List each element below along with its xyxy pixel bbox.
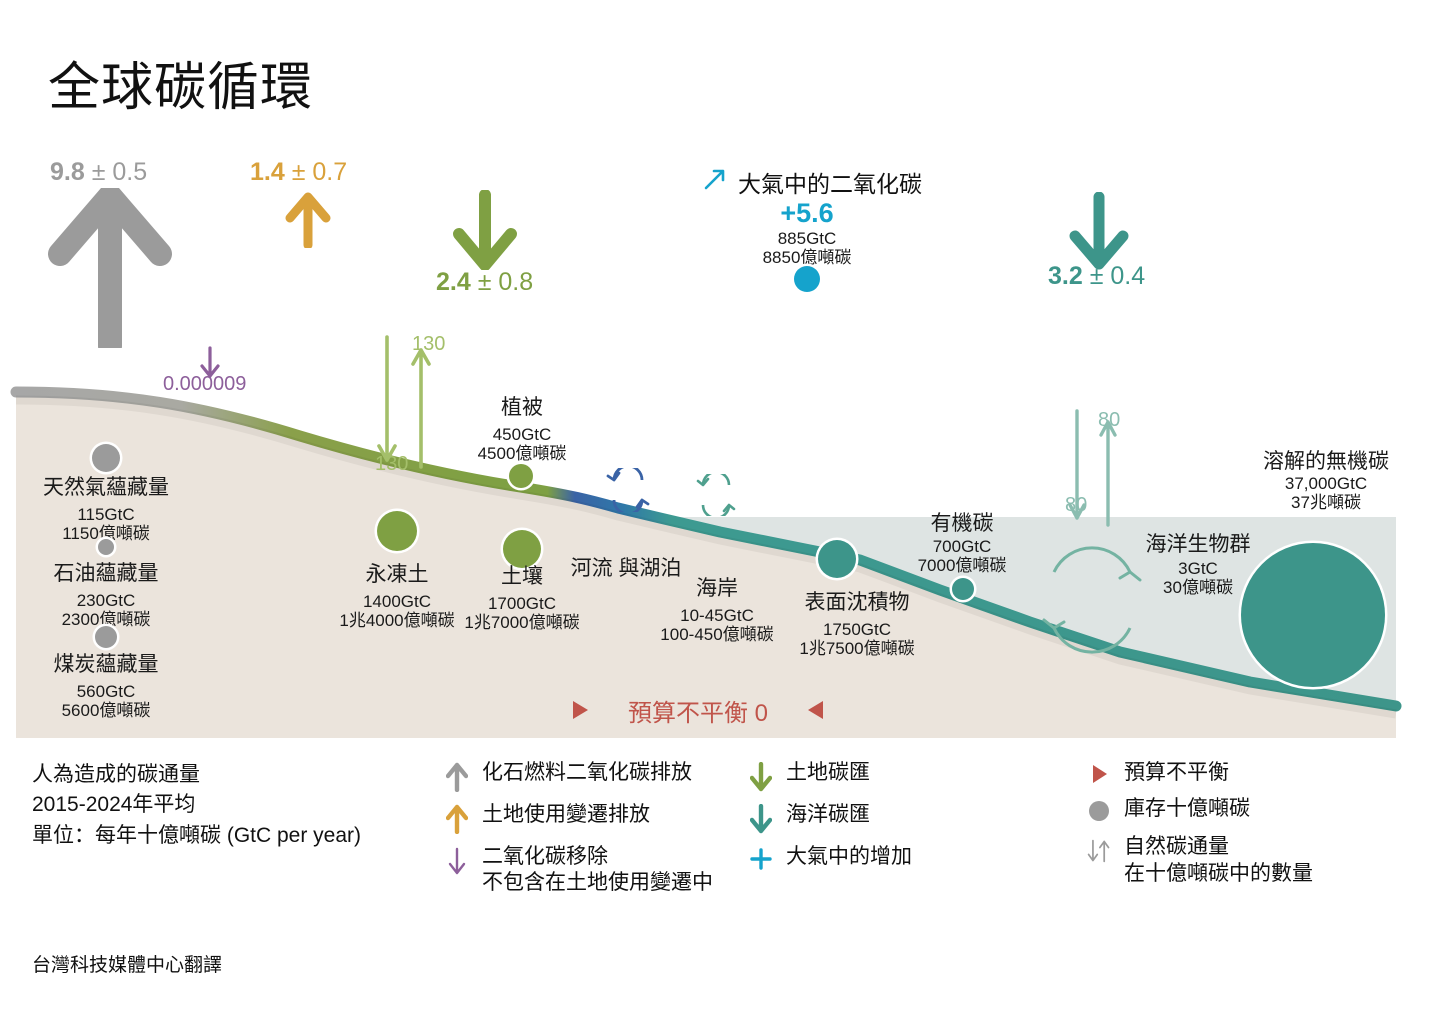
flux-landsink-label: 2.4 ± 0.8 <box>436 268 533 297</box>
flux-landuse-value: 1.4 <box>250 158 285 186</box>
translation-credit: 台灣科技媒體中心翻譯 <box>32 950 222 977</box>
legend-label-landuse: 土地使用變遷排放 <box>482 802 650 828</box>
flux-cdr-value: 0.000009 <box>163 373 246 396</box>
flux-oceansink-label: 3.2 ± 0.4 <box>1048 262 1145 291</box>
legend-item-landuse: 土地使用變遷排放 <box>444 802 744 834</box>
cycle-coasts-icon <box>694 474 738 516</box>
pool-cn-soils: 1兆7000億噸碳 <box>422 612 622 633</box>
pool-dot-dissolved-inorganic <box>1241 543 1385 687</box>
legend-label-imbalance: 預算不平衡 <box>1124 760 1229 786</box>
legend-item-stock: 庫存十億噸碳 <box>1086 796 1426 824</box>
budget-imbalance-text: 預算不平衡 0 <box>628 693 768 728</box>
pool-cn-organic-carbon: 7000億噸碳 <box>862 555 1062 576</box>
legend-item-ocean-sink: 海洋碳匯 <box>748 802 1048 834</box>
legend-label-ocean-sink: 海洋碳匯 <box>786 802 870 828</box>
natural-flux-ocean-up-value: 80 <box>1098 409 1120 432</box>
infographic-canvas: 全球碳循環 9.8 ± 0.5 1.4 ± 0.7 2.4 ± 0.8 3.2 … <box>0 0 1440 1015</box>
legend-label-natural-flux: 自然碳通量 在十億噸碳中的數量 <box>1124 834 1313 887</box>
pool-label-coal: 煤炭蘊藏量 <box>6 653 206 677</box>
arrow-up-grey-icon <box>444 760 470 792</box>
legend-label-atmos-growth: 大氣中的增加 <box>786 844 912 870</box>
arrow-down-oceansink-icon <box>1068 192 1130 270</box>
atmosphere-stock-dot <box>794 266 820 292</box>
triangle-left-icon <box>808 701 823 719</box>
flux-oceansink-value: 3.2 <box>1048 262 1083 290</box>
pool-label-marine-biota: 海洋生物群 <box>1098 533 1298 557</box>
flux-fossil-value: 9.8 <box>50 158 85 186</box>
legend-column-human-fluxes: 化石燃料二氧化碳排放 土地使用變遷排放 二氧化碳移除 不包含在土地使用變遷中 <box>444 760 744 907</box>
pool-dot-surface-sediments <box>818 540 856 578</box>
flux-landsink-value: 2.4 <box>436 268 471 296</box>
pool-label-surface-sediments: 表面沈積物 <box>757 591 957 615</box>
pool-dot-organic-carbon <box>952 578 974 600</box>
arrow-up-fossil-icon <box>48 188 172 348</box>
natural-flux-land-up-value: 130 <box>412 333 445 356</box>
arrow-down-green-icon <box>748 760 774 792</box>
arrow-down-purple-icon <box>444 844 470 876</box>
circle-grey-icon <box>1086 796 1112 824</box>
pool-dot-oil <box>98 539 114 555</box>
cycle-rivers-lakes-icon <box>604 468 652 512</box>
legend-item-fossil: 化石燃料二氧化碳排放 <box>444 760 744 792</box>
arrow-up-orange-icon <box>444 802 470 834</box>
pool-cn-vegetation: 4500億噸碳 <box>422 443 622 464</box>
pool-dot-soils <box>503 530 541 568</box>
pool-cn-dissolved-inorganic: 37兆噸碳 <box>1216 492 1436 513</box>
pool-dot-coal <box>95 626 117 648</box>
legend-item-atmos-growth: 大氣中的增加 <box>748 844 1048 872</box>
pool-dot-vegetation <box>509 464 533 488</box>
legend-label-stock: 庫存十億噸碳 <box>1124 796 1250 822</box>
legend-item-imbalance: 預算不平衡 <box>1086 760 1426 786</box>
flux-fossil-uncertainty: ± 0.5 <box>92 158 147 186</box>
legend-label-fossil: 化石燃料二氧化碳排放 <box>482 760 692 786</box>
legend-column-other: 預算不平衡 庫存十億噸碳 自然碳通量 在十億噸碳中的數量 <box>1086 760 1426 897</box>
legend-intro: 人為造成的碳通量 2015-2024年平均 單位：每年十億噸碳 (GtC per… <box>32 760 361 851</box>
atmosphere-label: 大氣中的二氧化碳 <box>738 165 922 199</box>
legend-column-sinks: 土地碳匯 海洋碳匯 大氣中的增加 <box>748 760 1048 882</box>
flux-landuse-label: 1.4 ± 0.7 <box>250 158 347 187</box>
pool-dot-natural-gas <box>92 444 120 472</box>
triangle-right-red-icon <box>1086 760 1112 786</box>
flux-fossil-label: 9.8 ± 0.5 <box>50 158 147 187</box>
flux-landsink-uncertainty: ± 0.8 <box>478 268 533 296</box>
pool-label-natural-gas: 天然氣蘊藏量 <box>6 476 206 500</box>
arrows-updown-grey-icon <box>1086 834 1112 866</box>
pool-label-organic-carbon: 有機碳 <box>862 512 1062 536</box>
natural-flux-ocean-down-value: 80 <box>1065 494 1087 517</box>
natural-flux-land-down-value: 130 <box>375 453 408 476</box>
legend-item-land-sink: 土地碳匯 <box>748 760 1048 792</box>
flux-landuse-uncertainty: ± 0.7 <box>292 158 347 186</box>
atmosphere-growth: +5.6 <box>702 198 912 229</box>
legend-item-natural-flux: 自然碳通量 在十億噸碳中的數量 <box>1086 834 1426 887</box>
pool-label-dissolved-inorganic: 溶解的無機碳 <box>1216 450 1436 474</box>
arrow-down-landsink-icon <box>452 190 518 270</box>
pool-dot-permafrost <box>377 511 417 551</box>
flux-oceansink-uncertainty: ± 0.4 <box>1090 262 1145 290</box>
legend-item-cdr: 二氧化碳移除 不包含在土地使用變遷中 <box>444 844 744 897</box>
pool-cn-surface-sediments: 1兆7500億噸碳 <box>757 638 957 659</box>
arrow-down-teal-icon <box>748 802 774 834</box>
triangle-right-icon <box>573 701 588 719</box>
arrow-diagonal-up-atmosphere-icon <box>702 166 728 192</box>
page-title: 全球碳循環 <box>48 62 313 114</box>
pool-label-oil: 石油蘊藏量 <box>6 562 206 586</box>
legend-label-land-sink: 土地碳匯 <box>786 760 870 786</box>
budget-imbalance-row: 預算不平衡 0 <box>0 690 1396 730</box>
arrow-up-landuse-icon <box>285 192 331 248</box>
plus-blue-icon <box>748 844 774 872</box>
legend-label-cdr: 二氧化碳移除 不包含在土地使用變遷中 <box>482 844 713 897</box>
pool-label-vegetation: 植被 <box>422 396 622 420</box>
